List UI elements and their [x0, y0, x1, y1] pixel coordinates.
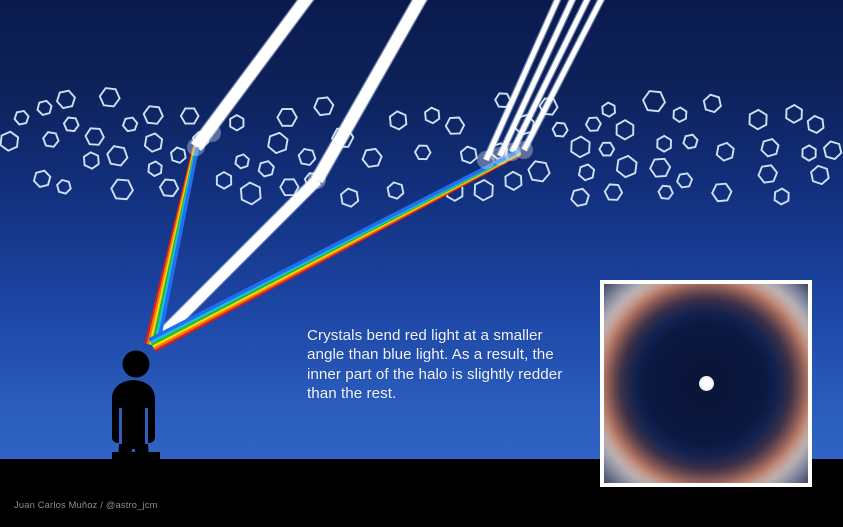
halo-photograph-inset [600, 280, 812, 487]
sun-disk [699, 376, 714, 391]
halo-diagram-figure: Crystals bend red light at a smaller ang… [0, 0, 843, 527]
halo-image [604, 284, 808, 483]
explanatory-caption: Crystals bend red light at a smaller ang… [307, 326, 592, 403]
author-credit: Juan Carlos Muñoz / @astro_jcm [14, 500, 158, 510]
